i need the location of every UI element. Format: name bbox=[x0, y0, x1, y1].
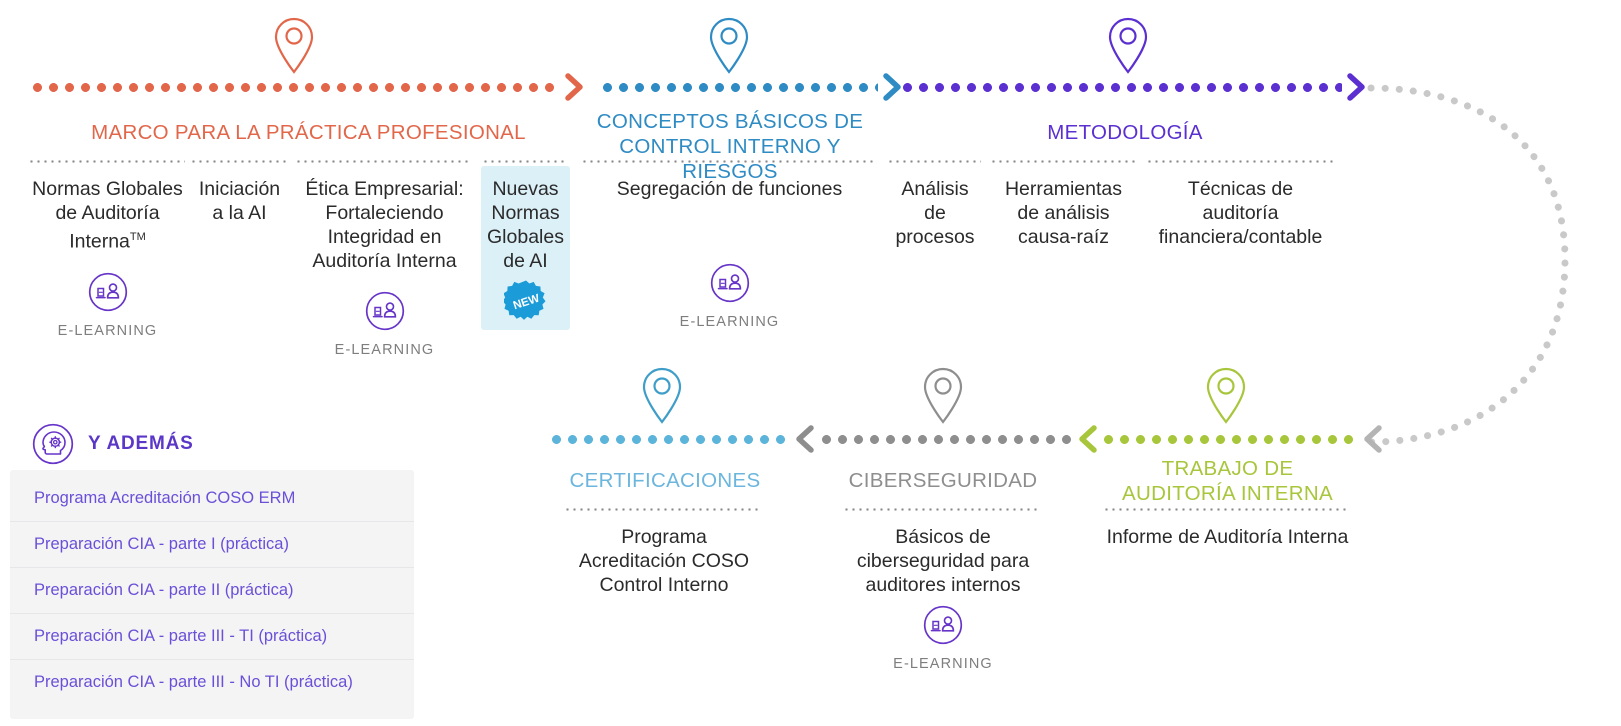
map-pin-icon-conceptos bbox=[707, 16, 751, 76]
rail-ciberseguridad bbox=[822, 434, 1099, 444]
extras-header: Y ADEMÁS bbox=[32, 423, 194, 465]
list-item[interactable]: Preparación CIA - parte I (práctica) bbox=[10, 522, 414, 568]
course-title: Análisis de procesos bbox=[889, 177, 981, 249]
rail-arrow-right bbox=[564, 72, 586, 102]
rail-certificaciones bbox=[552, 434, 816, 444]
extras-panel: Programa Acreditación COSO ERM Preparaci… bbox=[10, 470, 414, 719]
trademark-mark: TM bbox=[130, 231, 146, 243]
list-item[interactable]: Preparación CIA - parte II (práctica) bbox=[10, 568, 414, 614]
section-title-metodologia: METODOLOGÍA bbox=[1000, 120, 1250, 145]
rail-dots bbox=[903, 83, 1342, 92]
infographic-canvas: MARCO PARA LA PRÁCTICA PROFESIONAL Norma… bbox=[0, 0, 1621, 726]
map-pin-icon-certificaciones bbox=[640, 366, 684, 426]
elearning-block: E-LEARNING bbox=[297, 291, 472, 358]
rail-dots bbox=[1104, 435, 1356, 444]
e-learning-icon bbox=[923, 605, 963, 645]
rail-trabajo bbox=[1104, 434, 1384, 444]
elearning-label: E-LEARNING bbox=[30, 323, 185, 339]
list-item[interactable]: Programa Acreditación COSO ERM bbox=[10, 476, 414, 522]
elearning-label: E-LEARNING bbox=[297, 342, 472, 358]
elearning-label: E-LEARNING bbox=[583, 314, 876, 330]
course-column[interactable]: Iniciación a la AI bbox=[192, 160, 287, 225]
rail-dots bbox=[552, 435, 788, 444]
column-divider bbox=[992, 160, 1135, 163]
rail-dots bbox=[33, 83, 560, 92]
course-title: Herramientas de análisis causa-raíz bbox=[992, 177, 1135, 249]
extras-title: Y ADEMÁS bbox=[88, 433, 194, 455]
elearning-block: E-LEARNING bbox=[30, 272, 185, 339]
list-item[interactable]: Preparación CIA - parte III - No TI (prá… bbox=[10, 660, 414, 705]
course-title: Normas Globales de Auditoría InternaTM bbox=[30, 177, 185, 254]
rail-metodologia bbox=[903, 82, 1368, 92]
course-column[interactable]: Segregación de funciones E-LEARNING bbox=[583, 160, 876, 330]
course-title: Básicos de ciberseguridad para auditores… bbox=[845, 525, 1041, 597]
rail-marco bbox=[33, 82, 586, 92]
course-title: Técnicas de auditoría financiera/contabl… bbox=[1148, 177, 1333, 249]
column-divider bbox=[889, 160, 981, 163]
new-badge: NEW bbox=[504, 279, 548, 323]
column-divider bbox=[30, 160, 185, 163]
course-column-new[interactable]: Nuevas Normas Globales de AI NEW bbox=[484, 160, 567, 323]
section-title-ciberseguridad: CIBERSEGURIDAD bbox=[823, 468, 1063, 493]
course-title: Ética Empresarial: Fortaleciendo Integri… bbox=[297, 177, 472, 273]
map-pin-icon-ciberseguridad bbox=[921, 366, 965, 426]
course-title: Segregación de funciones bbox=[583, 177, 876, 201]
elearning-block: E-LEARNING bbox=[583, 263, 876, 330]
column-divider bbox=[845, 508, 1041, 511]
e-learning-icon bbox=[710, 263, 750, 303]
course-title: Programa Acreditación COSO Control Inter… bbox=[566, 525, 762, 597]
map-pin-icon-metodologia bbox=[1106, 16, 1150, 76]
column-divider bbox=[192, 160, 287, 163]
course-column[interactable]: Herramientas de análisis causa-raíz bbox=[992, 160, 1135, 249]
section-title-trabajo: TRABAJO DE AUDITORÍA INTERNA bbox=[1110, 456, 1345, 506]
course-column[interactable]: Básicos de ciberseguridad para auditores… bbox=[845, 508, 1041, 672]
rail-arrow-right bbox=[1346, 72, 1368, 102]
section-title-certificaciones: CERTIFICACIONES bbox=[545, 468, 785, 493]
rail-arrow-left bbox=[1362, 424, 1384, 454]
e-learning-icon bbox=[88, 272, 128, 312]
course-title: Iniciación a la AI bbox=[192, 177, 287, 225]
section-title-marco: MARCO PARA LA PRÁCTICA PROFESIONAL bbox=[30, 120, 587, 145]
e-learning-icon bbox=[365, 291, 405, 331]
course-title: Informe de Auditoría Interna bbox=[1105, 525, 1350, 549]
map-pin-icon-trabajo bbox=[1204, 366, 1248, 426]
course-column[interactable]: Técnicas de auditoría financiera/contabl… bbox=[1148, 160, 1333, 249]
course-column[interactable]: Análisis de procesos bbox=[889, 160, 981, 249]
rail-arrow-left bbox=[1077, 424, 1099, 454]
column-divider bbox=[484, 160, 567, 163]
column-divider bbox=[1105, 508, 1350, 511]
course-column[interactable]: Normas Globales de Auditoría InternaTM E… bbox=[30, 160, 185, 339]
rail-conceptos bbox=[603, 82, 904, 92]
rail-arrow-right bbox=[882, 72, 904, 102]
column-divider bbox=[297, 160, 472, 163]
head-gear-icon bbox=[32, 423, 74, 465]
rail-dots bbox=[822, 435, 1071, 444]
column-divider bbox=[1148, 160, 1333, 163]
rail-dots bbox=[603, 83, 878, 92]
course-column[interactable]: Programa Acreditación COSO Control Inter… bbox=[566, 508, 762, 597]
course-title: Nuevas Normas Globales de AI bbox=[484, 177, 567, 273]
course-column[interactable]: Ética Empresarial: Fortaleciendo Integri… bbox=[297, 160, 472, 358]
rail-arrow-left bbox=[794, 424, 816, 454]
loop-connector-curve bbox=[1355, 70, 1621, 460]
course-column[interactable]: Informe de Auditoría Interna bbox=[1105, 508, 1350, 549]
elearning-label: E-LEARNING bbox=[845, 656, 1041, 672]
map-pin-icon-marco bbox=[272, 16, 316, 76]
elearning-block: E-LEARNING bbox=[845, 605, 1041, 672]
column-divider bbox=[583, 160, 876, 163]
column-divider bbox=[566, 508, 762, 511]
list-item[interactable]: Preparación CIA - parte III - TI (prácti… bbox=[10, 614, 414, 660]
